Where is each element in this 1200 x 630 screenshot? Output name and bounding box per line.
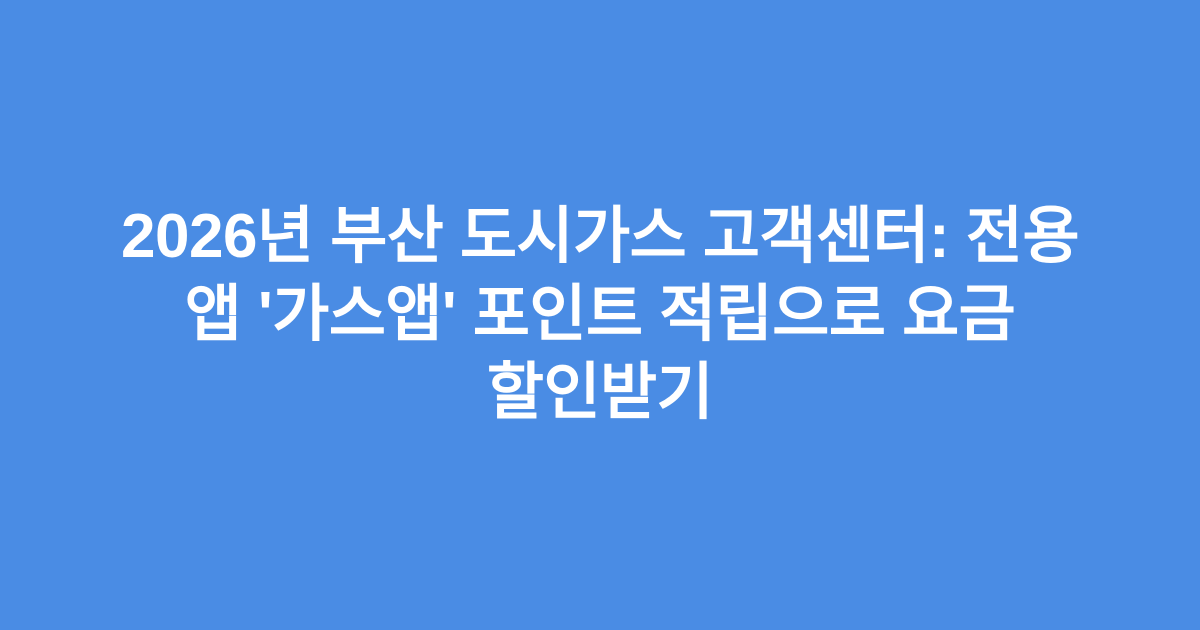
title-line-3: 할인받기 [40, 354, 1160, 432]
page-title: 2026년 부산 도시가스 고객센터: 전용 앱 '가스앱' 포인트 적립으로 … [40, 198, 1160, 432]
og-card: 2026년 부산 도시가스 고객센터: 전용 앱 '가스앱' 포인트 적립으로 … [0, 0, 1200, 630]
title-line-1: 2026년 부산 도시가스 고객센터: 전용 [40, 198, 1160, 276]
title-line-2: 앱 '가스앱' 포인트 적립으로 요금 [40, 276, 1160, 354]
